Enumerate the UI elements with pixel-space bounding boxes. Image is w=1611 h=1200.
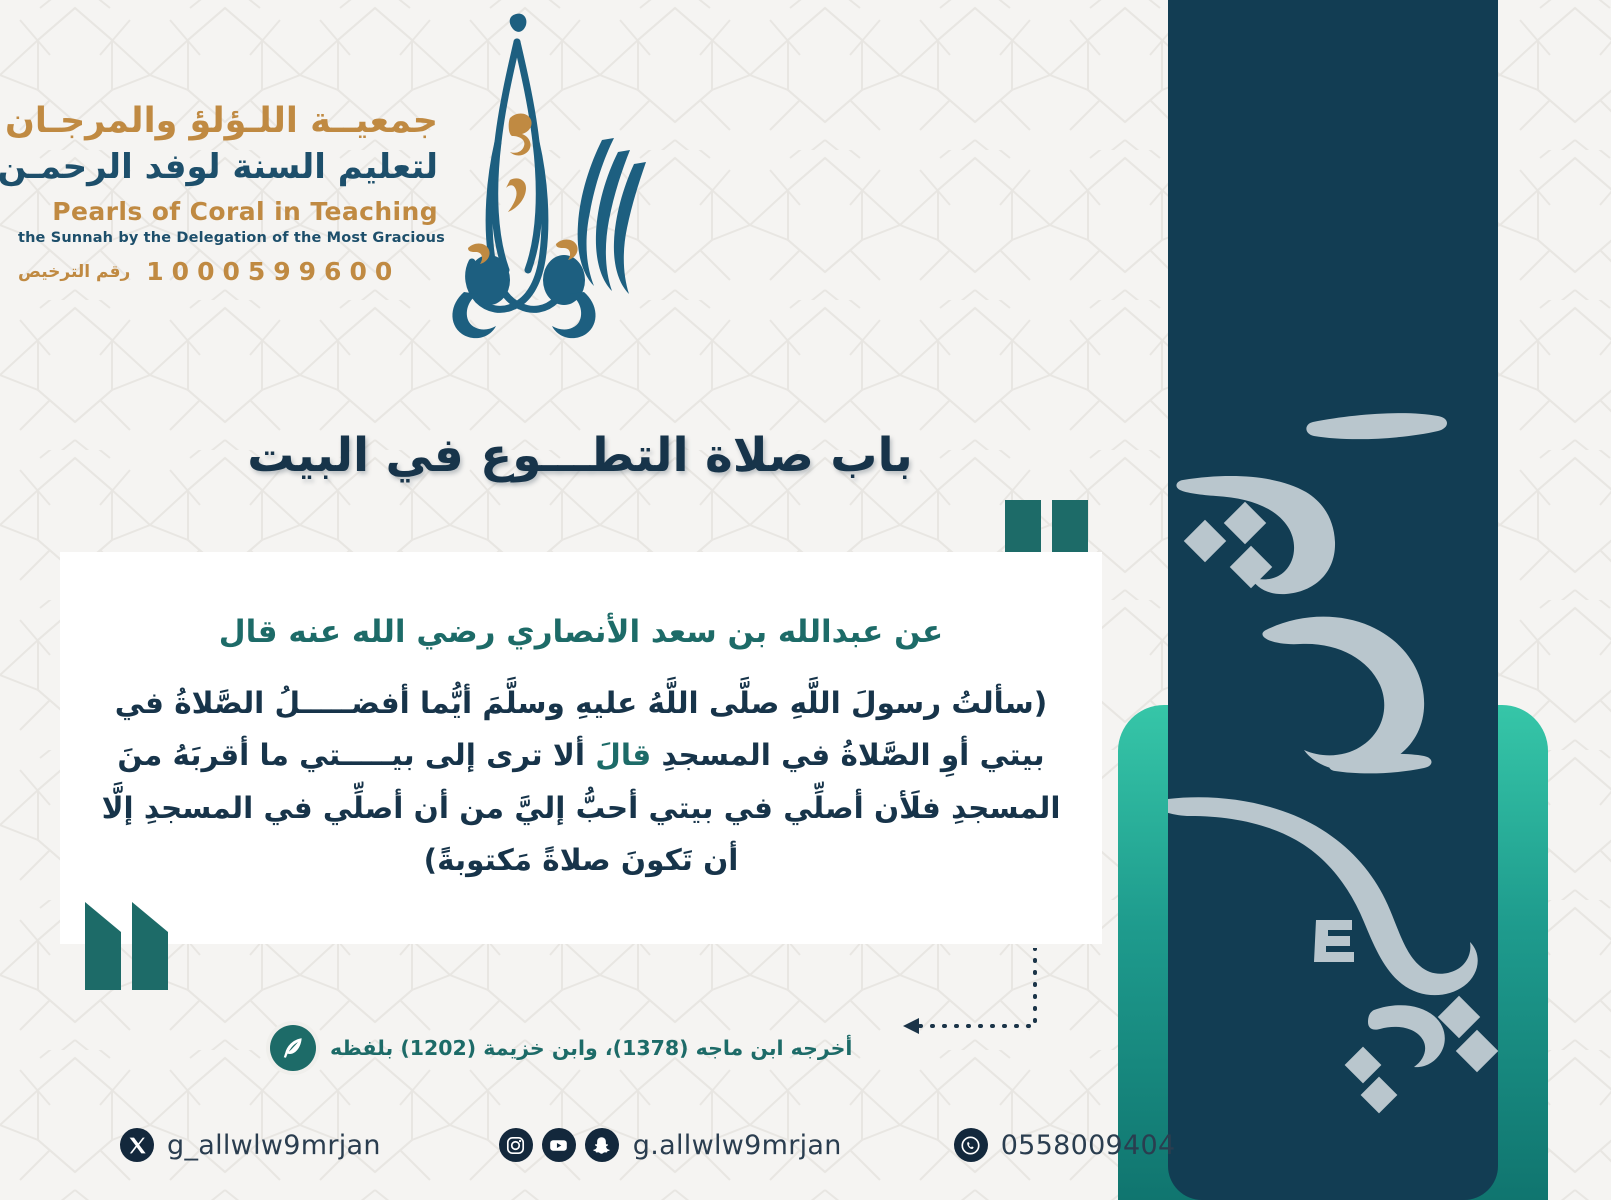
org-english-name-line1: Pearls of Coral in Teaching [18, 197, 438, 226]
snapchat-icon[interactable] [585, 1128, 619, 1162]
hadith-text-highlight: قالَ [595, 738, 651, 772]
instagram-icon[interactable] [499, 1128, 533, 1162]
x-handle[interactable]: g_allwlw9mrjan [167, 1130, 381, 1161]
attribution-row: أخرجه ابن ماجه (1378)، وابن خزيمة (1202)… [270, 1022, 890, 1074]
footer-social-bar: g_allwlw9mrjan [0, 1108, 1120, 1182]
social-icon-cluster [499, 1128, 619, 1162]
hadith-narrator: عن عبدالله بن سعد الأنصاري رضي الله عنه … [96, 610, 1066, 655]
hadith-card: عن عبدالله بن سعد الأنصاري رضي الله عنه … [60, 552, 1102, 944]
shared-handle[interactable]: g.allwlw9mrjan [633, 1130, 842, 1161]
page-title: باب صلاة التطـــوع في البيت [200, 428, 960, 483]
footer-social-group[interactable]: g.allwlw9mrjan [499, 1128, 842, 1162]
attribution-text: أخرجه ابن ماجه (1378)، وابن خزيمة (1202)… [330, 1036, 852, 1060]
youtube-icon[interactable] [542, 1128, 576, 1162]
decorative-navy-panel [1168, 0, 1498, 1200]
license-label: رقم الترخيص [18, 262, 130, 282]
footer-phone-group[interactable]: 0558009404 [954, 1128, 1176, 1162]
quote-close-icon [85, 932, 168, 990]
quote-open-icon [1005, 500, 1088, 558]
phone-number[interactable]: 0558009404 [1001, 1130, 1176, 1161]
org-english-name-line2: the Sunnah by the Delegation of the Most… [18, 230, 438, 246]
arabic-calligraphy-logo-icon [424, 12, 654, 342]
license-number: 1000599600 [146, 257, 400, 286]
license-row: رقم الترخيص 1000599600 [18, 257, 438, 286]
whatsapp-icon[interactable] [954, 1128, 988, 1162]
x-twitter-icon[interactable] [120, 1128, 154, 1162]
org-arabic-name-line2: لتعليم السنة لوفد الرحمـن [18, 146, 438, 189]
organization-logo-text: جمعيــة اللـؤلؤ والمرجـان لتعليم السنة ل… [18, 100, 438, 286]
poster-canvas: جمعيــة اللـؤلؤ والمرجـان لتعليم السنة ل… [0, 0, 1611, 1200]
feather-quill-icon [270, 1025, 316, 1071]
org-arabic-name-line1: جمعيــة اللـؤلؤ والمرجـان [18, 100, 438, 144]
hadith-text: (سألتُ رسولَ اللَّهِ صلَّى اللَّهُ عليهِ… [96, 677, 1066, 887]
footer-x-group[interactable]: g_allwlw9mrjan [120, 1128, 381, 1162]
